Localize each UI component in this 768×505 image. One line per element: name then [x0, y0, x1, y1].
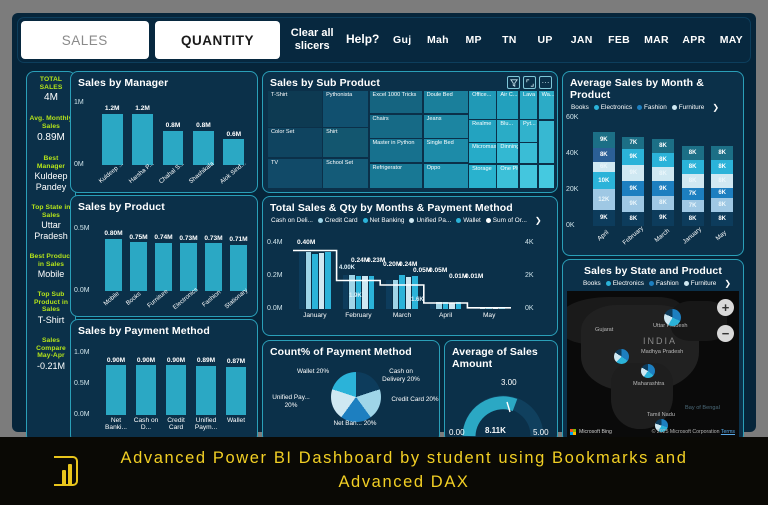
chart-legend: Cash on Deli...Credit CardNet BankingUni…	[263, 214, 557, 225]
chart-title: Sales by State and Product	[563, 260, 743, 277]
y-axis-tick-right: 2K	[525, 272, 534, 279]
bar-value-label: 1.2M	[105, 105, 120, 112]
kpi-top-state-in-sales: Top State in Sales Uttar Pradesh	[29, 204, 73, 242]
bar-item[interactable]: 0.8M	[188, 103, 218, 165]
y-axis-tick: 0.5M	[74, 225, 90, 232]
bar-rect[interactable]	[106, 365, 126, 415]
clear-all-slicers-button[interactable]: Clear all slicers	[283, 18, 341, 62]
legend-item[interactable]: Furniture	[672, 104, 705, 111]
map-canvas[interactable]: INDIA Gujarat Uttar Pradesh Madhya Prade…	[567, 291, 739, 437]
treemap-cell[interactable]: Refrigerator	[370, 164, 423, 188]
legend-swatch	[637, 105, 642, 110]
y-axis-tick: 0.0M	[74, 287, 90, 294]
stacked-bar-segment[interactable]: 9K	[622, 181, 644, 197]
pie-slice-label: Unified Pay... 20%	[267, 394, 315, 409]
map-attribution: Microsoft Bing	[570, 429, 612, 435]
legend-item[interactable]: Books	[583, 280, 601, 287]
combo-line-label: 1.6K	[411, 297, 424, 303]
legend-label: Sum of Or...	[493, 217, 527, 224]
kpi-best-manager: Best Manager Kuldeep Pandey	[29, 155, 73, 193]
bar-rect[interactable]	[102, 114, 123, 165]
y-axis-tick: 60K	[566, 114, 578, 121]
slicer-state-tn[interactable]: TN	[492, 18, 528, 62]
stacked-bar-segment[interactable]: 7K	[682, 188, 704, 200]
treemap-cell[interactable]: Pythonista	[323, 91, 368, 127]
bar-item[interactable]: 0.71M	[226, 229, 251, 291]
bar-rect[interactable]	[105, 239, 122, 291]
legend-label: Fashion	[656, 280, 679, 287]
slicer-state-guj[interactable]: Guj	[384, 18, 420, 62]
treemap-cell[interactable]: Pyt...	[520, 120, 537, 141]
stacked-bar-segment[interactable]: 8K	[711, 174, 733, 188]
legend-swatch	[606, 281, 611, 286]
legend-label: Furniture	[679, 104, 705, 111]
caption-text: Advanced Power BI Dashboard by student u…	[94, 447, 714, 495]
kpi-value: T-Shirt	[29, 315, 73, 326]
legend-label: Fashion	[644, 104, 667, 111]
legend-item[interactable]: Wallet	[456, 217, 481, 224]
legend-next-arrow[interactable]: ❯	[724, 279, 731, 288]
bar-value-label: 0.80M	[104, 230, 122, 237]
stacked-bar-segment[interactable]: 10K	[593, 172, 615, 189]
bar-value-label: 0.71M	[229, 236, 247, 243]
treemap-cell[interactable]: Master in Python	[370, 139, 423, 162]
y-axis-tick: 0.5M	[74, 380, 90, 387]
bar-rect[interactable]	[180, 243, 197, 291]
legend-item[interactable]: Electronics	[594, 104, 632, 111]
stacked-bar-segment[interactable]: 8K	[682, 160, 704, 174]
treemap-cell[interactable]: Storage	[469, 165, 496, 188]
kpi-best-product-in-sales: Best Product in Sales Mobile	[29, 253, 73, 280]
kpi-value: 0.89M	[29, 132, 73, 144]
chart-total-sales-qty-by-months-payment[interactable]: Total Sales & Qty by Months & Payment Me…	[262, 196, 558, 336]
bar-item[interactable]: 0.6M	[219, 103, 249, 165]
legend-swatch	[318, 218, 323, 223]
treemap-cell[interactable]: Blu...	[497, 120, 518, 141]
gauge-max-label: 5.00	[533, 428, 549, 437]
map-place-maharashtra: Maharashtra	[633, 381, 664, 387]
kpi-label: Top State in Sales	[29, 204, 73, 219]
treemap-cell[interactable]: Doule Bed	[424, 91, 468, 113]
kpi-label: Best Manager	[29, 155, 73, 170]
stacked-bar-segment[interactable]: 8K	[682, 174, 704, 188]
map-place-gujarat: Gujarat	[595, 327, 613, 333]
legend-label: Books	[571, 104, 589, 111]
legend-label: Books	[583, 280, 601, 287]
x-axis-tick[interactable]: April	[590, 224, 617, 248]
y-axis-tick: 1M	[74, 99, 84, 106]
legend-item[interactable]: Net Banking	[363, 217, 405, 224]
x-axis-categories: AprilFebruaryMarchJanuaryMay	[589, 233, 737, 240]
stacked-bar-segment[interactable]: 8K	[622, 212, 644, 226]
stacked-bar-segment[interactable]: 8K	[652, 139, 674, 153]
chart-sales-by-state-and-product[interactable]: Sales by State and Product BooksElectron…	[562, 259, 744, 443]
kpi-label: TOTAL SALES	[29, 76, 73, 91]
x-axis-tick[interactable]: February	[620, 224, 647, 248]
stacked-bar-segment[interactable]: 9K	[622, 149, 644, 165]
kpi-avg-monthly-sales: Avg. Monthly Sales 0.89M	[29, 115, 73, 143]
stacked-bar-segment[interactable]: 8K	[711, 160, 733, 174]
chart-title: Count% of Payment Method	[263, 341, 439, 358]
bar-item[interactable]: 0.74M	[151, 229, 176, 291]
bar-rect[interactable]	[196, 366, 216, 415]
slicer-state-mah[interactable]: Mah	[420, 18, 456, 62]
chart-sales-by-sub-product[interactable]: Sales by Sub Product ··· T-Shirt Color S…	[262, 71, 558, 193]
legend-swatch	[363, 218, 368, 223]
bookmark-tab-quantity[interactable]: QUANTITY	[155, 21, 281, 59]
legend-item[interactable]: Furniture	[684, 280, 717, 287]
treemap-cell[interactable]: Dinning...	[497, 143, 518, 163]
caption-bar: Advanced Power BI Dashboard by student u…	[0, 437, 768, 505]
legend-label: Electronics	[601, 104, 632, 111]
stacked-bar-column[interactable]: 8K8K8K6K8K8K	[707, 118, 737, 226]
visual-toolbar: ···	[507, 76, 552, 89]
kpi-label: Sales Compare May-Apr	[29, 337, 73, 360]
chart-title: Sales by Product	[71, 196, 257, 213]
bar-value-label: 0.74M	[154, 234, 172, 241]
bar-item[interactable]: 0.8M	[158, 103, 188, 165]
map-pie-marker[interactable]	[641, 364, 655, 378]
x-axis-tick[interactable]: Stationary	[224, 288, 250, 311]
kpi-label: Avg. Monthly Sales	[29, 115, 73, 130]
chart-title: Average of Sales Amount	[445, 341, 557, 370]
bar-value-label: 0.90M	[137, 357, 155, 364]
bar-rect[interactable]	[230, 245, 247, 291]
x-axis-tick[interactable]: March	[380, 312, 424, 319]
legend-label: Wallet	[463, 217, 481, 224]
x-axis-tick[interactable]: Unified Paym...	[191, 417, 221, 432]
powerbi-report-canvas: SALES QUANTITY Clear all slicers Help? G…	[12, 13, 756, 432]
y-axis-tick: 0.0M	[74, 411, 90, 418]
x-axis-tick[interactable]: Furniture	[146, 289, 169, 310]
stacked-bar-segment[interactable]: 8K	[711, 146, 733, 160]
top-slicer-bar: SALES QUANTITY Clear all slicers Help? G…	[18, 18, 750, 62]
legend-label: Electronics	[613, 280, 644, 287]
legend-swatch	[456, 218, 461, 223]
stacked-bar-segment[interactable]: 9K	[593, 132, 615, 148]
stacked-bar-column[interactable]: 7K9K9K9K9K8K	[619, 118, 649, 226]
bar-item[interactable]: 0.90M	[131, 353, 161, 415]
chart-average-sales-by-month-product[interactable]: Average Sales by Month & Product BooksEl…	[562, 71, 744, 256]
x-axis-tick[interactable]: April	[424, 312, 468, 319]
chart-title: Average Sales by Month & Product	[563, 72, 743, 101]
legend-item[interactable]: Electronics	[606, 280, 644, 287]
legend-next-arrow[interactable]: ❯	[535, 216, 542, 225]
legend-item[interactable]: Fashion	[637, 104, 667, 111]
bar-item[interactable]: 0.89M	[191, 353, 221, 415]
y-axis-tick-left: 0.2M	[267, 272, 283, 279]
bar-value-label: 0.87M	[227, 358, 245, 365]
legend-swatch	[409, 218, 414, 223]
map-place-bay-of-bengal: Bay of Bengal	[685, 405, 720, 411]
screenshot-frame: SALES QUANTITY Clear all slicers Help? G…	[0, 0, 768, 505]
focus-mode-icon[interactable]	[523, 76, 536, 89]
stacked-bar-segment[interactable]: 8K	[682, 146, 704, 160]
stacked-bar-segment[interactable]: 9K	[652, 181, 674, 197]
chart-sales-by-payment-method[interactable]: Sales by Payment Method 1.0M0.5M0.0M0.90…	[70, 319, 258, 443]
treemap-cell[interactable]: Air C...	[497, 91, 518, 119]
treemap-cell[interactable]: Realme	[469, 120, 496, 141]
kpi-value: Uttar Pradesh	[29, 220, 73, 242]
pie-slice-label: Net Ban... 20%	[331, 420, 379, 428]
y-axis-tick: 20K	[566, 186, 578, 193]
bookmark-tab-sales[interactable]: SALES	[21, 21, 149, 59]
slicer-month-may[interactable]: MAY	[713, 18, 750, 62]
kpi-sales-compare-may-apr: Sales Compare May-Apr -0.21M	[29, 337, 73, 372]
x-axis-tick[interactable]: Wallet	[221, 417, 251, 432]
stacked-bar-segment[interactable]: 6K	[711, 188, 733, 198]
legend-item[interactable]: Fashion	[649, 280, 679, 287]
bar-series: 0.80M0.75M0.74M0.73M0.73M0.71M	[101, 229, 251, 291]
stacked-bar-segment[interactable]: 8K	[652, 196, 674, 210]
chart-legend: BooksElectronicsFashionFurniture❯	[563, 101, 743, 112]
bar-value-label: 0.8M	[166, 122, 181, 129]
bar-rect[interactable]	[205, 243, 222, 291]
treemap-cell[interactable]: Single Bed	[424, 139, 468, 162]
legend-swatch	[672, 105, 677, 110]
x-axis-tick[interactable]: January	[293, 312, 337, 319]
slicer-state-mp[interactable]: MP	[456, 18, 492, 62]
map-place-tamil-nadu: Tamil Nadu	[647, 412, 675, 418]
x-axis-tick[interactable]: February	[337, 312, 381, 319]
legend-item[interactable]: Cash on Deli...	[271, 217, 313, 224]
bar-rect[interactable]	[130, 242, 147, 291]
y-axis-tick-left: 0.0M	[267, 305, 283, 312]
legend-label: Cash on Deli...	[271, 217, 313, 224]
bar-item[interactable]: 0.73M	[201, 229, 226, 291]
treemap-cell[interactable]: Office...	[469, 91, 496, 119]
bar-value-label: 0.8M	[196, 122, 211, 129]
kpi-total-sales: TOTAL SALES 4M	[29, 76, 73, 104]
bar-rect[interactable]	[226, 367, 246, 415]
slicer-month-apr[interactable]: APR	[675, 18, 712, 62]
chart-title: Total Sales & Qty by Months & Payment Me…	[263, 197, 557, 214]
legend-next-arrow[interactable]: ❯	[712, 103, 719, 112]
gauge-value-label: 8.11K	[485, 426, 506, 435]
legend-label: Net Banking	[370, 217, 405, 224]
y-axis-tick: 0M	[74, 161, 84, 168]
treemap-cell[interactable]: School Set	[323, 159, 368, 188]
stacked-bar-segment[interactable]: 8K	[652, 153, 674, 167]
bar-value-label: 0.73M	[204, 235, 222, 242]
treemap-cell[interactable]: Jeans	[424, 115, 468, 138]
map-zoom-in-button[interactable]: +	[717, 299, 734, 316]
stacked-bar-segment[interactable]: 9K	[622, 196, 644, 212]
treemap-cell[interactable]: Lava	[520, 91, 537, 119]
chart-count-pct-payment-method[interactable]: Count% of Payment Method Cash on Deliver…	[262, 340, 440, 443]
legend-label: Credit Card	[325, 217, 358, 224]
stacked-bar-column[interactable]: 9K8K6K10K12K9K	[589, 118, 619, 226]
stacked-bar-segment[interactable]: 9K	[593, 210, 615, 226]
x-axis-tick[interactable]: Mobile	[101, 290, 123, 310]
map-zoom-out-button[interactable]: −	[717, 325, 734, 342]
treemap-cell[interactable]: One Plus	[497, 165, 518, 188]
bar-value-label: 0.73M	[179, 235, 197, 242]
map-pie-marker[interactable]	[664, 309, 681, 326]
y-axis-tick: 1.0M	[74, 349, 90, 356]
x-axis-tick[interactable]: May	[467, 312, 511, 319]
x-axis-tick[interactable]: January	[679, 224, 706, 248]
help-button[interactable]: Help?	[341, 18, 384, 62]
x-axis-tick[interactable]: Credit Card	[161, 417, 191, 432]
treemap-body: T-Shirt Color Set TV Pythonista Shirt Sc…	[268, 91, 554, 188]
treemap-cell[interactable]: Color Set	[268, 128, 322, 157]
bar-value-label: 0.90M	[167, 357, 185, 364]
map-place-madhya-pradesh: Madhya Pradesh	[641, 349, 683, 355]
x-axis-tick[interactable]: Books	[124, 290, 146, 310]
bar-value-label: 0.90M	[107, 357, 125, 364]
combo-line-label: 4.00K	[339, 265, 355, 271]
treemap-cell[interactable]: T-Shirt	[268, 91, 322, 127]
bar-value-label: 1.2M	[135, 105, 150, 112]
legend-swatch	[486, 218, 491, 223]
stacked-bar-segment[interactable]: 12K	[593, 189, 615, 210]
legend-item[interactable]: Sum of Or...	[486, 217, 527, 224]
kpi-value: Mobile	[29, 269, 73, 280]
x-axis-categories: MobileBooksFurnitureElectronicsFashionSt…	[101, 296, 251, 303]
kpi-value: 4M	[29, 92, 73, 104]
kpi-top-sub-product-in-sales: Top Sub Product in Sales T-Shirt	[29, 291, 73, 326]
chart-title: Sales by Payment Method	[71, 320, 257, 337]
stacked-bar-segment[interactable]: 9K	[622, 165, 644, 181]
stacked-bar-segment[interactable]: 7K	[622, 137, 644, 149]
bar-item[interactable]: 0.90M	[161, 353, 191, 415]
legend-item[interactable]: Unified Pa...	[409, 217, 451, 224]
map-copyright-label: © 2025 Microsoft Corporation	[652, 429, 720, 435]
bar-series: 1.2M1.2M0.8M0.8M0.6M	[97, 103, 249, 165]
chart-sales-by-manager[interactable]: Sales by Manager 1M0M1.2M1.2M0.8M0.8M0.6…	[70, 71, 258, 193]
treemap-cell[interactable]	[520, 165, 537, 188]
legend-label: Furniture	[691, 280, 717, 287]
x-axis-tick[interactable]: Cash on D...	[131, 417, 161, 432]
bar-value-label: 0.89M	[197, 357, 215, 364]
map-terms-link[interactable]: Terms	[721, 429, 735, 435]
stacked-bar-column[interactable]: 8K8K8K7K7K8K	[678, 118, 708, 226]
bar-rect[interactable]	[166, 365, 186, 415]
legend-swatch	[649, 281, 654, 286]
x-axis-tick[interactable]: May	[709, 224, 736, 248]
x-axis-categories: Net Banki...Cash on D...Credit CardUnifi…	[101, 417, 251, 432]
stacked-bar-segment[interactable]: 8K	[593, 148, 615, 162]
chart-title: Sales by Manager	[71, 72, 257, 89]
treemap-cell[interactable]: Chairs	[370, 115, 423, 138]
bar-item[interactable]: 1.2M	[127, 103, 157, 165]
bar-item[interactable]: 0.80M	[101, 229, 126, 291]
x-axis-categories: Kuldeep ...Harsha P...Chahal S...Shashik…	[97, 170, 249, 177]
stacked-bar-series: 9K8K6K10K12K9K7K9K9K9K9K8K8K8K8K9K8K9K8K…	[589, 118, 737, 226]
treemap-cell[interactable]: Shirt	[323, 128, 368, 157]
stacked-bar-segment[interactable]: 8K	[652, 167, 674, 181]
kpi-value: -0.21M	[29, 361, 73, 372]
more-options-icon[interactable]: ···	[539, 76, 552, 89]
microsoft-logo-icon	[570, 429, 576, 435]
kpi-value: Kuldeep Pandey	[29, 171, 73, 193]
treemap-cell[interactable]: TV	[268, 159, 322, 188]
treemap-cell[interactable]: Oppo	[424, 164, 468, 188]
chart-average-of-sales-amount[interactable]: Average of Sales Amount 3.000.005.008.11…	[444, 340, 558, 443]
bar-item[interactable]: 0.73M	[176, 229, 201, 291]
pie-slice-label: Wallet 20%	[289, 368, 337, 376]
map-copyright: © 2025 Microsoft Corporation Terms	[652, 429, 735, 435]
kpi-label: Top Sub Product in Sales	[29, 291, 73, 314]
x-axis-tick[interactable]: March	[649, 224, 676, 248]
stacked-bar-segment[interactable]: 8K	[711, 198, 733, 212]
map-region-label: INDIA	[643, 336, 677, 346]
legend-item[interactable]: Credit Card	[318, 217, 358, 224]
slicer-month-feb[interactable]: FEB	[600, 18, 637, 62]
stacked-bar-column[interactable]: 8K8K8K9K8K9K	[648, 118, 678, 226]
legend-item[interactable]: Books	[571, 104, 589, 111]
legend-swatch	[684, 281, 689, 286]
slicer-month-mar[interactable]: MAR	[638, 18, 675, 62]
treemap-cell[interactable]: Micromax	[469, 143, 496, 163]
y-axis-tick-left: 0.4M	[267, 239, 283, 246]
power-bi-logo-icon	[54, 456, 80, 486]
treemap-cell[interactable]: Excel 1000 Tricks	[370, 91, 423, 113]
treemap-cell[interactable]	[520, 143, 537, 163]
map-pie-marker[interactable]	[614, 349, 629, 364]
legend-swatch	[594, 105, 599, 110]
treemap-cell[interactable]: Wa...	[539, 91, 554, 119]
x-axis-categories: JanuaryFebruaryMarchAprilMay	[293, 312, 511, 319]
bar-item[interactable]: 1.2M	[97, 103, 127, 165]
x-axis-tick[interactable]: Net Banki...	[101, 417, 131, 432]
treemap-cell[interactable]	[539, 121, 554, 163]
slicer-month-jan[interactable]: JAN	[563, 18, 600, 62]
bar-value-label: 0.6M	[226, 131, 241, 138]
stacked-bar-segment[interactable]: 6K	[593, 162, 615, 172]
pie-slice-label: Credit Card 20%	[391, 396, 439, 404]
bar-rect[interactable]	[132, 114, 153, 165]
bar-item[interactable]: 0.87M	[221, 353, 251, 415]
gauge-target-label: 3.00	[501, 378, 517, 387]
bar-rect[interactable]	[155, 243, 172, 291]
legend-label: Unified Pa...	[416, 217, 451, 224]
x-axis-tick[interactable]: Fashion	[201, 290, 223, 310]
pie-body[interactable]	[331, 372, 381, 422]
y-axis-tick: 0K	[566, 222, 575, 229]
filter-icon[interactable]	[507, 76, 520, 89]
bar-value-label: 0.75M	[129, 234, 147, 241]
chart-legend: BooksElectronicsFashionFurniture❯	[563, 277, 743, 288]
combo-line-label: 1.9K	[349, 293, 362, 299]
kpi-label: Best Product in Sales	[29, 253, 73, 268]
order-qty-step-line	[293, 243, 511, 309]
stacked-bar-segment[interactable]: 7K	[682, 200, 704, 212]
treemap-cell[interactable]	[539, 165, 554, 189]
bar-series: 0.90M0.90M0.90M0.89M0.87M	[101, 353, 251, 415]
chart-sales-by-product[interactable]: Sales by Product 0.5M0.0M0.80M0.75M0.74M…	[70, 195, 258, 317]
y-axis-tick-right: 4K	[525, 239, 534, 246]
slicer-state-up[interactable]: UP	[527, 18, 563, 62]
gauge-min-label: 0.00	[449, 428, 465, 437]
map-attribution-label: Microsoft Bing	[579, 429, 612, 435]
bar-rect[interactable]	[136, 365, 156, 415]
pie-slice-label: Cash on Delivery 20%	[377, 368, 425, 383]
bar-item[interactable]: 0.75M	[126, 229, 151, 291]
y-axis-tick-right: 0K	[525, 305, 534, 312]
kpi-column: TOTAL SALES 4M Avg. Monthly Sales 0.89M …	[26, 71, 76, 443]
y-axis-tick: 40K	[566, 150, 578, 157]
bar-item[interactable]: 0.90M	[101, 353, 131, 415]
